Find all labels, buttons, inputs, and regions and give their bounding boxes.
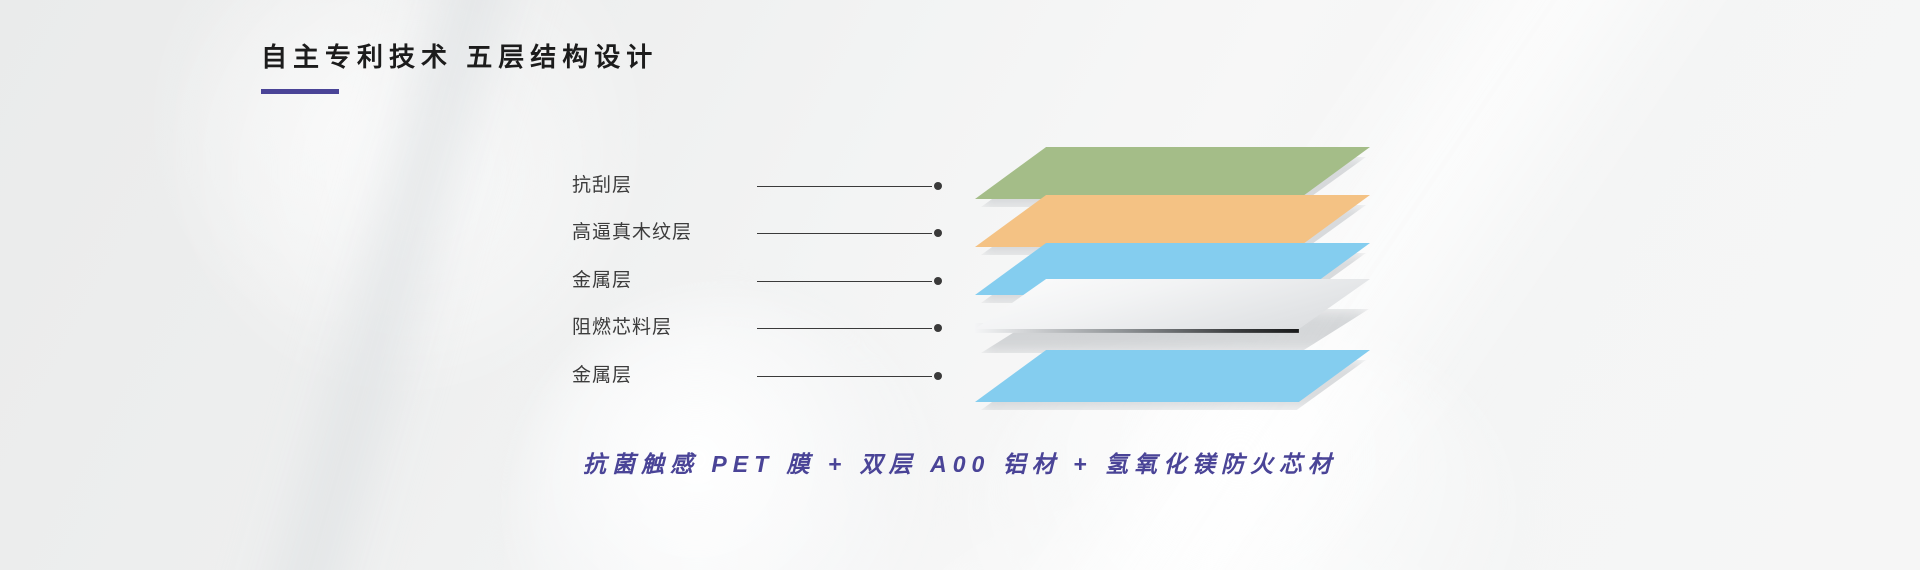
leader-line-stroke: [757, 233, 932, 234]
layer-callout-row: 高逼真木纹层: [572, 218, 942, 248]
leader-line-stroke: [757, 328, 932, 329]
layer-callout-row: 阻燃芯料层: [572, 313, 942, 343]
layer-slab: [975, 195, 1370, 247]
leader-endpoint-dot-icon: [934, 182, 942, 190]
layer-label: 金属层: [572, 361, 757, 391]
leader-endpoint-dot-icon: [934, 229, 942, 237]
layer-slab-core: [975, 279, 1375, 351]
layer-leader-line: [757, 266, 942, 296]
leader-endpoint-dot-icon: [934, 372, 942, 380]
layer-label: 高逼真木纹层: [572, 218, 757, 248]
layer-slab: [975, 350, 1370, 402]
layer-callout-row: 金属层: [572, 266, 942, 296]
layer-callout-row: 抗刮层: [572, 171, 942, 201]
layer-leader-line: [757, 361, 942, 391]
layer-slab: [975, 147, 1370, 199]
layer-label: 抗刮层: [572, 171, 757, 201]
leader-endpoint-dot-icon: [934, 324, 942, 332]
layer-label: 阻燃芯料层: [572, 313, 757, 343]
leader-line-stroke: [757, 186, 932, 187]
leader-line-stroke: [757, 281, 932, 282]
layer-leader-line: [757, 218, 942, 248]
leader-endpoint-dot-icon: [934, 277, 942, 285]
layer-leader-line: [757, 171, 942, 201]
layer-diagram: 抗刮层高逼真木纹层金属层阻燃芯料层金属层: [0, 0, 1920, 570]
layer-callout-row: 金属层: [572, 361, 942, 391]
layer-label: 金属层: [572, 266, 757, 296]
caption-text: 抗菌触感 PET 膜 + 双层 A00 铝材 + 氢氧化镁防火芯材: [0, 445, 1920, 479]
leader-line-stroke: [757, 376, 932, 377]
slide-canvas: 自主专利技术 五层结构设计 抗刮层高逼真木纹层金属层阻燃芯料层金属层 抗菌触感 …: [0, 0, 1920, 570]
layer-leader-line: [757, 313, 942, 343]
